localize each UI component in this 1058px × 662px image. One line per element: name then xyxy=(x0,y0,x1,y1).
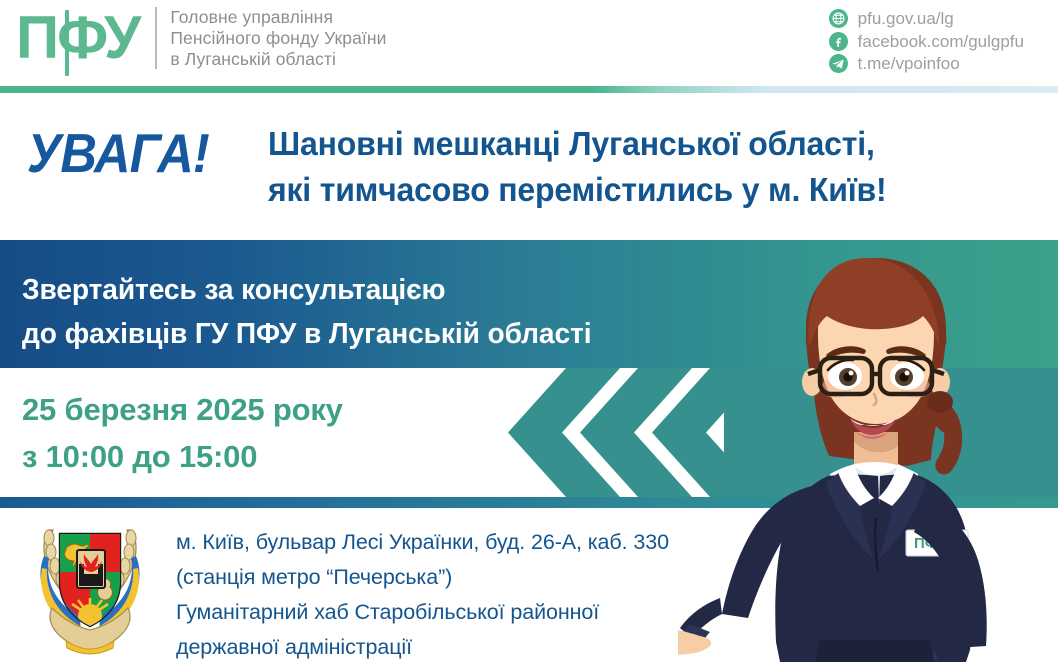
organization-line-2: Пенсійного фонду України xyxy=(170,28,386,49)
consultation-line-2: до фахівців ГУ ПФУ в Луганській області xyxy=(22,312,591,356)
venue-line-1: м. Київ, бульвар Лесі Українки, буд. 26-… xyxy=(176,525,669,560)
venue-line-4: державної адміністрації xyxy=(176,630,669,662)
schedule-date: 25 березня 2025 року xyxy=(22,386,343,433)
header-divider-bar xyxy=(0,86,1058,93)
contact-telegram[interactable]: t.me/vpoinfoo xyxy=(829,54,1024,73)
contact-website-text: pfu.gov.ua/lg xyxy=(858,9,954,28)
facebook-icon xyxy=(829,32,848,51)
poster: ПФУ Головне управління Пенсійного фонду … xyxy=(0,0,1058,662)
brand-divider xyxy=(155,7,157,69)
contact-list: pfu.gov.ua/lg facebook.com/gulgpfu t.me/… xyxy=(829,9,1024,73)
organization-line-3: в Луганській області xyxy=(170,49,386,70)
contact-facebook[interactable]: facebook.com/gulgpfu xyxy=(829,32,1024,51)
contact-facebook-text: facebook.com/gulgpfu xyxy=(858,32,1024,51)
luhansk-coat-of-arms-icon xyxy=(22,516,158,656)
organization-name: Головне управління Пенсійного фонду Укра… xyxy=(170,7,386,70)
salutation-line-2: які тимчасово перемістились у м. Київ! xyxy=(268,167,886,213)
attention-word: УВАГА! xyxy=(27,123,209,183)
brand-block: ПФУ Головне управління Пенсійного фонду … xyxy=(16,6,387,70)
schedule-text: 25 березня 2025 року з 10:00 до 15:00 xyxy=(22,386,343,480)
schedule-section: 25 березня 2025 року з 10:00 до 15:00 xyxy=(0,368,1058,497)
venue-line-2: (станція метро “Печерська”) xyxy=(176,560,669,595)
pfu-logo-phi-stem xyxy=(65,10,69,76)
pfu-logo-text: ПФУ xyxy=(16,4,139,71)
footer-divider-strip xyxy=(0,497,1058,508)
attention-section: УВАГА! Шановні мешканці Луганської облас… xyxy=(0,93,1058,240)
pfu-logo: ПФУ xyxy=(16,6,143,70)
chevron-solid-block xyxy=(724,368,1058,497)
venue-address: м. Київ, бульвар Лесі Українки, буд. 26-… xyxy=(176,525,669,662)
chevron-arrows-decoration xyxy=(508,368,1058,497)
consultation-line-1: Звертайтесь за консультацією xyxy=(22,268,591,312)
poster-header: ПФУ Головне управління Пенсійного фонду … xyxy=(0,0,1058,86)
organization-line-1: Головне управління xyxy=(170,7,386,28)
schedule-time: з 10:00 до 15:00 xyxy=(22,433,343,480)
venue-section: м. Київ, бульвар Лесі Українки, буд. 26-… xyxy=(0,508,1058,662)
salutation-line-1: Шановні мешканці Луганської області, xyxy=(268,121,886,167)
contact-website[interactable]: pfu.gov.ua/lg xyxy=(829,9,1024,28)
contact-telegram-text: t.me/vpoinfoo xyxy=(858,54,960,73)
venue-line-3: Гуманітарний хаб Старобільської районної xyxy=(176,595,669,630)
telegram-icon xyxy=(829,54,848,73)
consultation-band: Звертайтесь за консультацією до фахівців… xyxy=(0,240,1058,368)
globe-icon xyxy=(829,9,848,28)
salutation: Шановні мешканці Луганської області, які… xyxy=(268,121,886,213)
consultation-text: Звертайтесь за консультацією до фахівців… xyxy=(22,268,591,356)
